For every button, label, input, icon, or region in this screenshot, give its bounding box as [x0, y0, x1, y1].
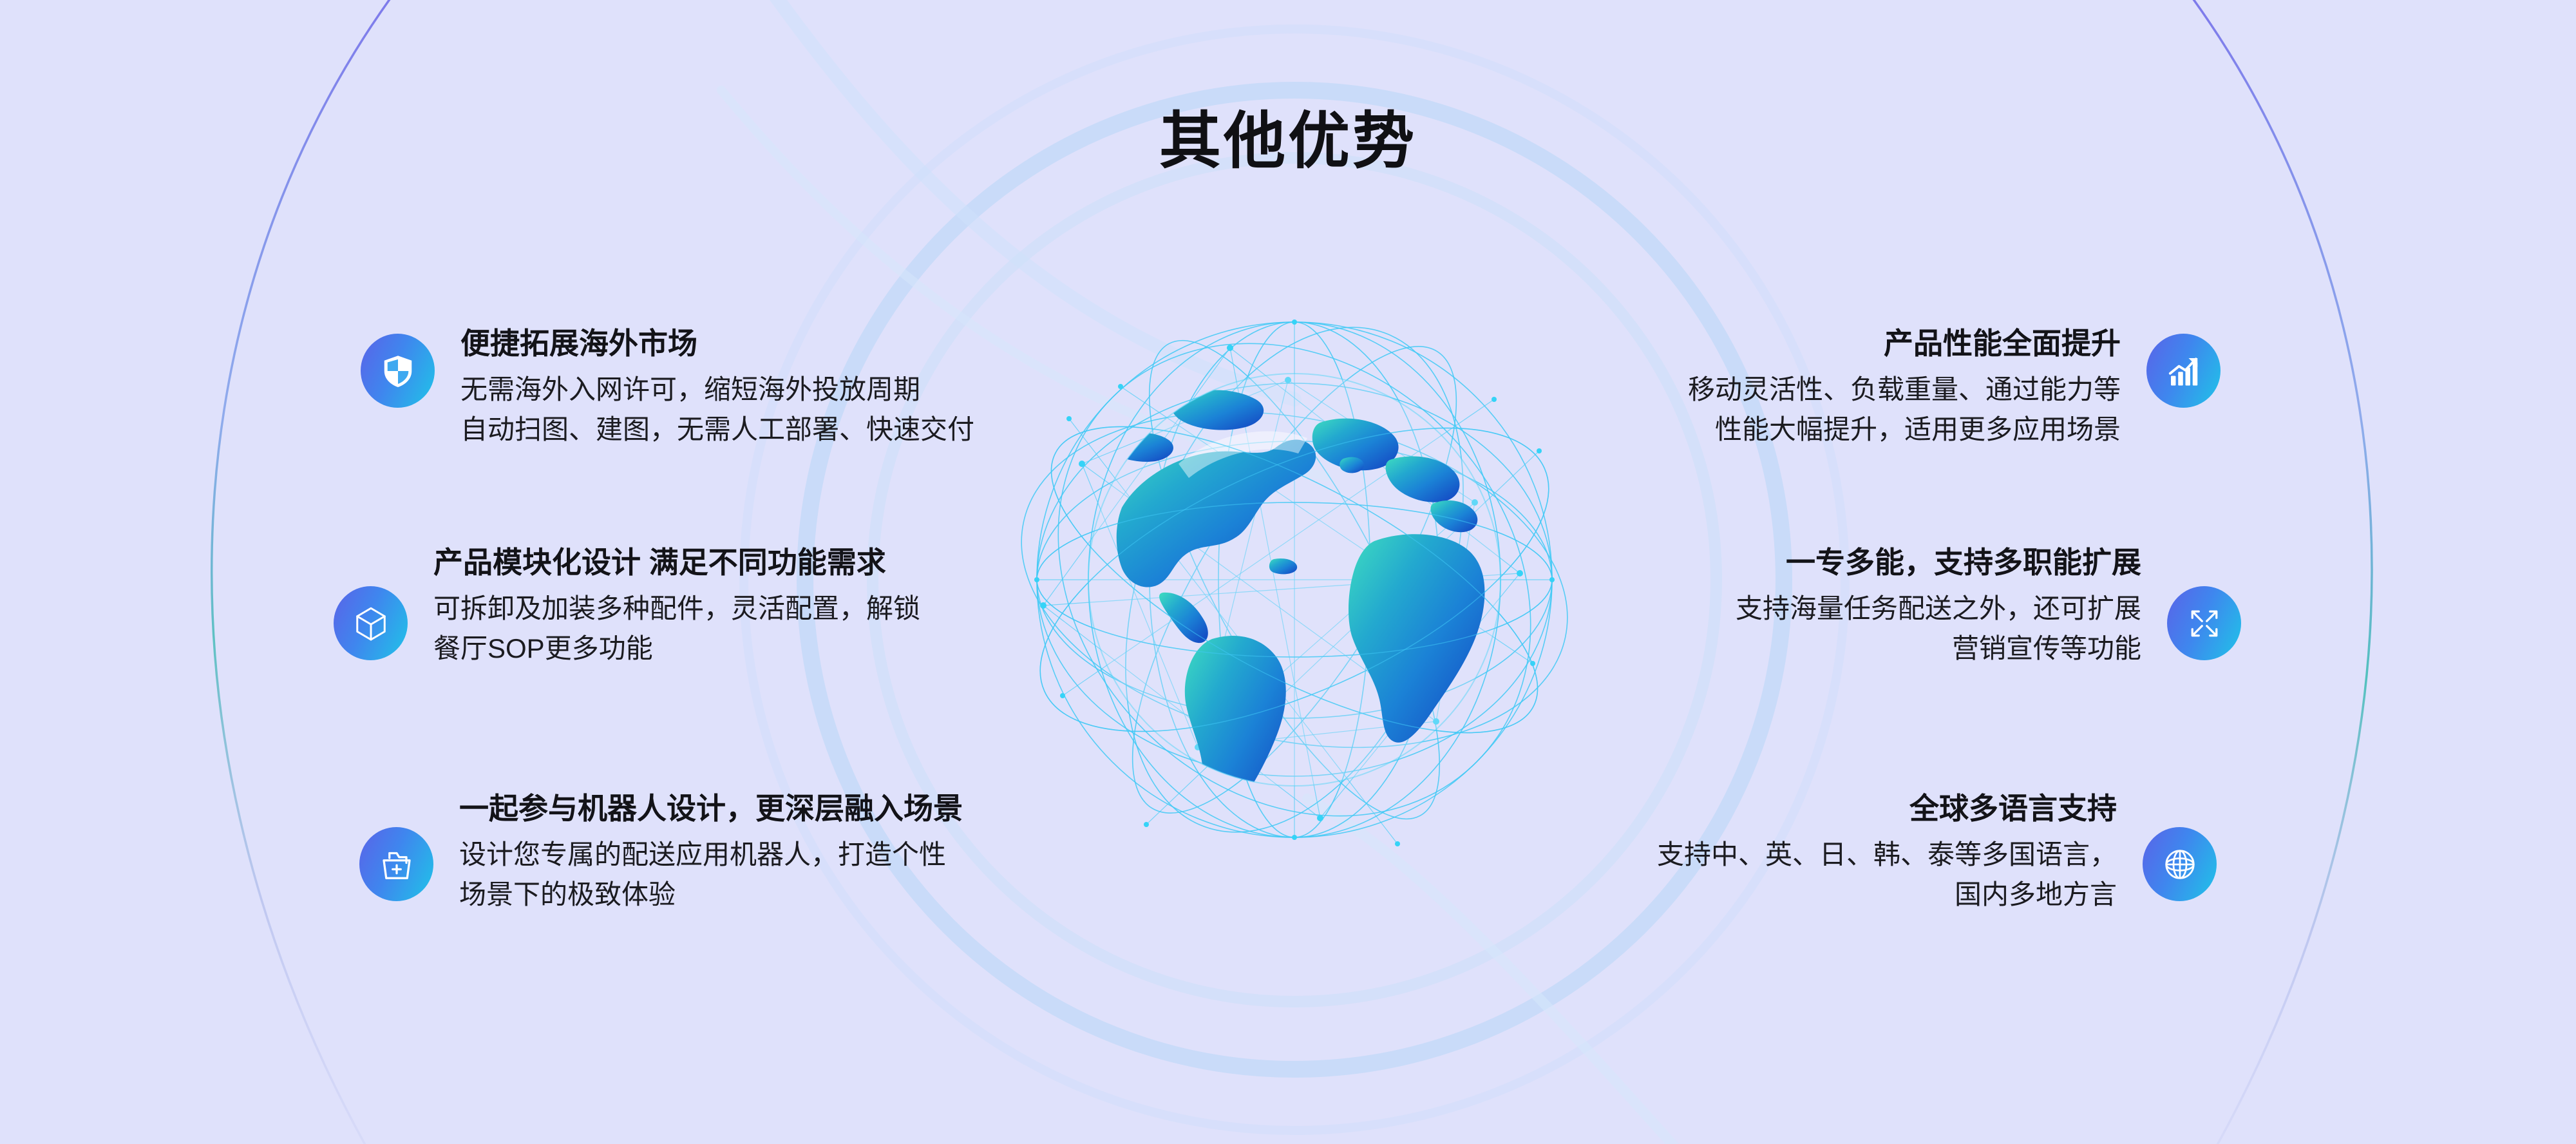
feature-title: 便捷拓展海外市场 [460, 326, 974, 361]
feature-line: 场景下的极致体验 [459, 875, 963, 915]
feature-line: 餐厅SOP更多功能 [433, 629, 920, 669]
feature-title: 产品性能全面提升 [1688, 326, 2121, 361]
feature-title: 一起参与机器人设计，更深层融入场景 [459, 791, 963, 826]
feature-line: 自动扫图、建图，无需人工部署、快速交付 [460, 410, 974, 450]
globe-icon [2143, 827, 2217, 901]
growth-chart-icon [2146, 334, 2221, 408]
shield-icon [361, 334, 435, 408]
feature-item-left-1[interactable]: 便捷拓展海外市场 无需海外入网许可，缩短海外投放周期 自动扫图、建图，无需人工部… [361, 322, 974, 450]
feature-text: 一起参与机器人设计，更深层融入场景 设计您专属的配送应用机器人，打造个性 场景下… [459, 787, 963, 915]
feature-title: 一专多能，支持多职能扩展 [1736, 545, 2141, 580]
feature-text: 产品模块化设计 满足不同功能需求 可拆卸及加装多种配件，灵活配置，解锁 餐厅SO… [433, 541, 920, 669]
feature-line: 移动灵活性、负载重量、通过能力等 [1688, 370, 2121, 410]
expand-arrows-icon [2167, 586, 2241, 660]
feature-line: 营销宣传等功能 [1736, 629, 2141, 669]
feature-item-left-3[interactable]: 一起参与机器人设计，更深层融入场景 设计您专属的配送应用机器人，打造个性 场景下… [359, 787, 963, 915]
feature-item-right-3[interactable]: 全球多语言支持 支持中、英、日、韩、泰等多国语言， 国内多地方言 [1657, 787, 2217, 915]
feature-text: 产品性能全面提升 移动灵活性、负载重量、通过能力等 性能大幅提升，适用更多应用场… [1688, 322, 2121, 450]
advantages-section: 其他优势 [0, 0, 2576, 1144]
feature-title: 产品模块化设计 满足不同功能需求 [433, 545, 920, 580]
feature-text: 全球多语言支持 支持中、英、日、韩、泰等多国语言， 国内多地方言 [1657, 787, 2117, 915]
feature-line: 可拆卸及加装多种配件，灵活配置，解锁 [433, 589, 920, 629]
global-network-globe [985, 271, 1604, 889]
feature-text: 一专多能，支持多职能扩展 支持海量任务配送之外，还可扩展 营销宣传等功能 [1736, 541, 2141, 669]
folder-plus-icon [359, 827, 433, 901]
feature-item-right-1[interactable]: 产品性能全面提升 移动灵活性、负载重量、通过能力等 性能大幅提升，适用更多应用场… [1688, 322, 2221, 450]
feature-line: 设计您专属的配送应用机器人，打造个性 [459, 835, 963, 875]
feature-line: 性能大幅提升，适用更多应用场景 [1688, 410, 2121, 450]
feature-text: 便捷拓展海外市场 无需海外入网许可，缩短海外投放周期 自动扫图、建图，无需人工部… [460, 322, 974, 450]
feature-line: 无需海外入网许可，缩短海外投放周期 [460, 370, 974, 410]
feature-line: 支持中、英、日、韩、泰等多国语言， [1657, 835, 2117, 875]
page-title: 其他优势 [0, 111, 2576, 173]
feature-line: 国内多地方言 [1657, 875, 2117, 915]
feature-line: 支持海量任务配送之外，还可扩展 [1736, 589, 2141, 629]
cube-icon [334, 586, 408, 660]
feature-item-right-2[interactable]: 一专多能，支持多职能扩展 支持海量任务配送之外，还可扩展 营销宣传等功能 [1736, 541, 2241, 669]
earth-sphere [1088, 374, 1507, 821]
feature-item-left-2[interactable]: 产品模块化设计 满足不同功能需求 可拆卸及加装多种配件，灵活配置，解锁 餐厅SO… [334, 541, 920, 669]
feature-title: 全球多语言支持 [1657, 791, 2117, 826]
